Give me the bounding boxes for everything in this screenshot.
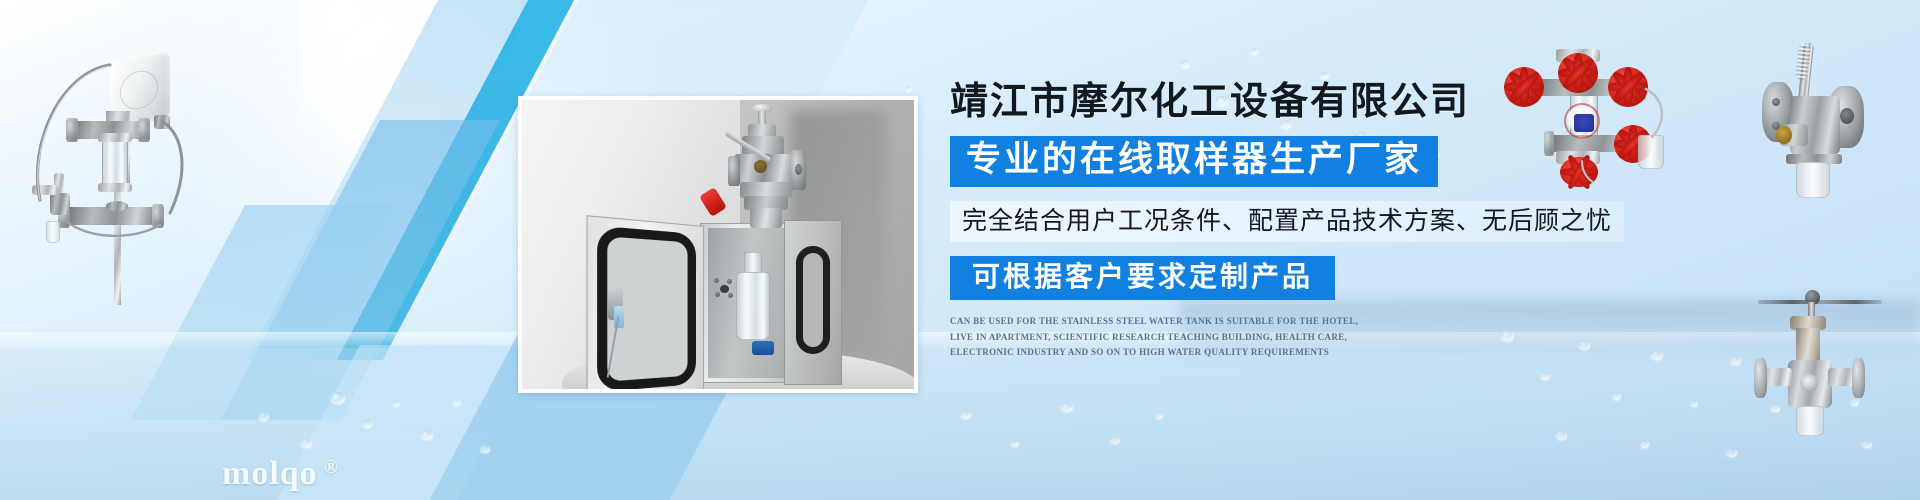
lever-grip-knurl (1795, 43, 1811, 80)
cross-sample-bottle (1638, 135, 1664, 169)
water-droplet (1320, 72, 1329, 79)
mounting-plate (106, 111, 130, 183)
blue-bottle-cap (752, 341, 774, 355)
sampler-enclosure (110, 52, 170, 128)
subline-text: 完全结合用户工况条件、配置产品技术方案、无后顾之忧 (950, 201, 1624, 242)
water-droplet (392, 400, 400, 407)
water-droplet (1612, 392, 1621, 400)
water-droplet (1155, 412, 1163, 419)
valve-base-plate (1786, 154, 1842, 164)
water-droplet (300, 438, 312, 448)
sampler-tubing (10, 25, 200, 305)
lower-valve-cap (106, 201, 128, 211)
flange-lower-right (152, 204, 164, 228)
sample-bottle-neck (744, 252, 762, 274)
flange-c (1544, 131, 1554, 156)
upper-right-port (154, 115, 170, 129)
brand-seal-icon (1564, 103, 1600, 139)
banner-text-block: 靖江市摩尔化工设备有限公司 专业的在线取样器生产厂家 完全结合用户工况条件、配置… (950, 80, 1510, 361)
flange-lower-left (58, 204, 70, 228)
cross-top-cap (1556, 49, 1600, 62)
sample-beaker (46, 221, 60, 243)
water-droplet (1578, 340, 1590, 350)
english-caption: CAN BE USED FOR THE STAINLESS STEEL WATE… (950, 314, 1368, 360)
water-droplet (1110, 436, 1120, 444)
photo-sampling-valve (718, 104, 814, 232)
water-droplet (420, 430, 433, 440)
headline-badge: 专业的在线取样器生产厂家 (950, 136, 1438, 187)
handwheel-left (1504, 67, 1544, 107)
product-photo (518, 96, 918, 393)
water-droplet (1850, 398, 1859, 406)
water-droplet (1770, 404, 1780, 412)
water-droplet (1730, 356, 1741, 365)
valve-sample-bottle (1796, 162, 1830, 198)
gate-valve-body (1788, 360, 1832, 408)
cross-glass-column (1570, 71, 1598, 155)
gate-brand-medallion (1800, 374, 1818, 392)
glass-bottom-collar (98, 183, 132, 192)
water-droplet (1862, 440, 1872, 448)
gate-bonnet-nut (1790, 316, 1826, 330)
gate-bonnet (1796, 328, 1820, 366)
sun-ray-decoration (300, 0, 500, 160)
water-droplet (1180, 60, 1190, 68)
water-droplet (1810, 362, 1823, 372)
side-port (32, 185, 58, 195)
water-droplet (1060, 402, 1073, 412)
gate-handle-bar (1758, 300, 1882, 304)
flange-a (1528, 75, 1538, 100)
top-right-equipment-illustration (1490, 35, 1705, 185)
water-droplet (362, 420, 372, 428)
water-droplet (1555, 430, 1567, 440)
upper-manifold (72, 121, 146, 139)
gate-right-flange (1852, 358, 1865, 398)
valve-brand-medallion (1776, 126, 1792, 144)
water-droplet (1250, 48, 1258, 55)
water-droplet (1690, 400, 1698, 407)
water-droplet (330, 392, 345, 404)
cross-upper-arm (1534, 79, 1640, 96)
flange-b (1636, 75, 1646, 100)
far-right-equipment-illustration (1718, 30, 1908, 230)
left-flange (1762, 82, 1794, 142)
water-droplet (1010, 440, 1019, 447)
sample-bottle (736, 272, 770, 340)
gate-left-flange (1754, 358, 1767, 398)
handwheel-bottom (1560, 157, 1598, 187)
water-droplet (1540, 372, 1550, 380)
relief-valve-stem (54, 173, 64, 203)
cabinet-mount-holes (712, 278, 736, 300)
flange-upper-right (138, 118, 150, 142)
sight-glass-tube (102, 139, 128, 187)
gate-handle-knob (1805, 290, 1820, 305)
company-name: 靖江市摩尔化工设备有限公司 (950, 80, 1510, 124)
flange-upper-left (66, 118, 78, 142)
water-droplet (452, 398, 461, 406)
valve-side-port (1780, 124, 1808, 146)
water-droplet (258, 412, 269, 421)
gate-sample-bottle (1796, 406, 1824, 436)
registered-trademark-icon: ® (324, 457, 339, 479)
lower-manifold (66, 207, 156, 225)
bottom-right-equipment-illustration (1752, 278, 1912, 438)
secondary-badge: 可根据客户要求定制产品 (950, 256, 1335, 300)
handwheel-lower-right (1614, 125, 1652, 163)
cabinet-side-gasket (796, 246, 830, 354)
water-droplet (1640, 440, 1649, 448)
gate-left-arm (1762, 368, 1792, 386)
gate-stem (1808, 302, 1815, 364)
glass-top-collar (98, 133, 132, 142)
relief-valve-body (50, 193, 70, 215)
cross-lower-arm (1550, 135, 1646, 152)
right-flange (1828, 86, 1864, 148)
stand-pole (114, 175, 121, 305)
product-banner: 靖江市摩尔化工设备有限公司 专业的在线取样器生产厂家 完全结合用户工况条件、配置… (0, 0, 1920, 500)
gate-right-arm (1828, 368, 1858, 386)
water-droplet (1726, 448, 1737, 457)
water-droplet (480, 445, 490, 453)
water-droplet (960, 410, 971, 419)
diagonal-stripe-mid (220, 120, 500, 420)
cross-bottom-cap (1556, 151, 1600, 164)
brand-watermark: molqo ® (222, 455, 339, 493)
valve-body (1790, 96, 1840, 154)
cross-tubing (1490, 35, 1705, 185)
diagonal-stripe-soft (131, 205, 395, 420)
water-droplet (905, 86, 912, 92)
left-equipment-illustration (10, 25, 200, 305)
enclosure-panel-circle (120, 68, 158, 112)
watermark-text: molqo (222, 455, 318, 493)
handwheel-right (1608, 67, 1648, 107)
handwheel-top (1558, 53, 1598, 93)
water-droplet (1650, 350, 1663, 360)
valve-lever-handle (1792, 42, 1814, 158)
